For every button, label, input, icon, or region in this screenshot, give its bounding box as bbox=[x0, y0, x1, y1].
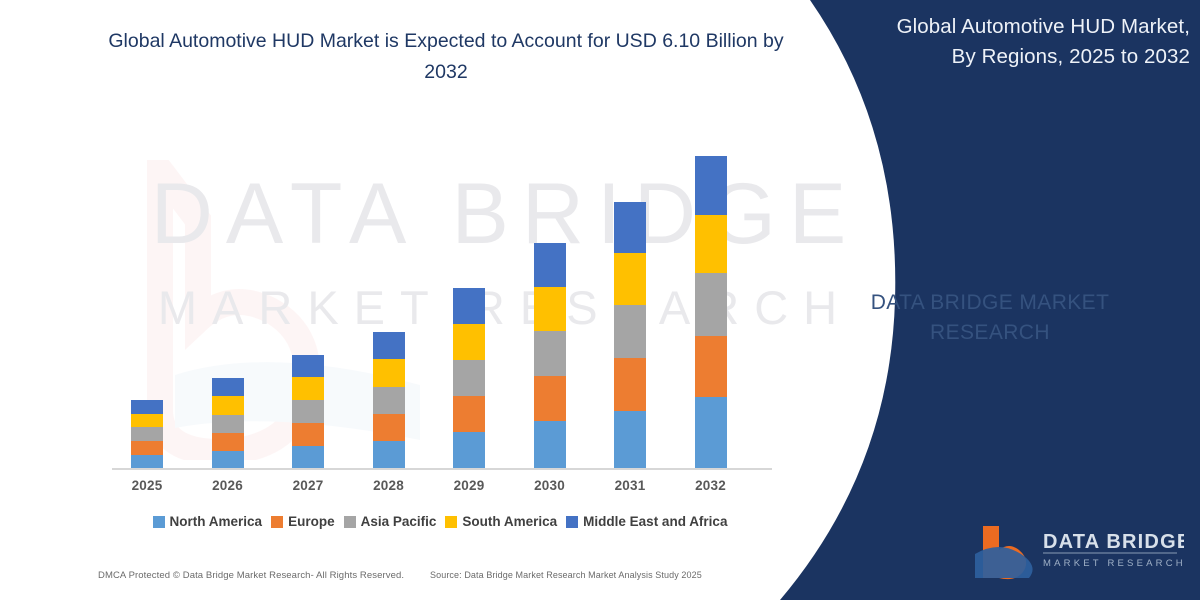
bar-group bbox=[0, 0, 800, 600]
bar-segment[interactable] bbox=[373, 387, 405, 414]
legend-label: Middle East and Africa bbox=[583, 514, 727, 529]
x-axis-label: 2028 bbox=[354, 478, 424, 493]
bar-segment[interactable] bbox=[534, 331, 566, 376]
bar-column[interactable] bbox=[695, 156, 727, 468]
bar-column[interactable] bbox=[614, 202, 646, 468]
legend-label: North America bbox=[170, 514, 263, 529]
bar-segment[interactable] bbox=[131, 455, 163, 468]
bar-segment[interactable] bbox=[131, 427, 163, 441]
x-axis-label: 2027 bbox=[273, 478, 343, 493]
infographic-root: Global Automotive HUD Market is Expected… bbox=[0, 0, 1200, 600]
bar-segment[interactable] bbox=[534, 243, 566, 287]
bar-segment[interactable] bbox=[695, 397, 727, 468]
legend-label: Europe bbox=[288, 514, 335, 529]
bar-column[interactable] bbox=[534, 243, 566, 468]
x-axis-label: 2029 bbox=[434, 478, 504, 493]
bar-segment[interactable] bbox=[131, 414, 163, 427]
bar-segment[interactable] bbox=[212, 378, 244, 396]
bar-segment[interactable] bbox=[453, 396, 485, 432]
x-axis-label: 2026 bbox=[193, 478, 263, 493]
panel-content: Global Automotive HUD Market, By Regions… bbox=[740, 0, 1200, 600]
bar-segment[interactable] bbox=[212, 415, 244, 433]
bar-segment[interactable] bbox=[292, 423, 324, 446]
bar-column[interactable] bbox=[453, 288, 485, 468]
bar-segment[interactable] bbox=[614, 411, 646, 468]
bar-segment[interactable] bbox=[614, 202, 646, 253]
bar-segment[interactable] bbox=[292, 377, 324, 400]
legend-swatch bbox=[344, 516, 356, 528]
legend-swatch bbox=[271, 516, 283, 528]
bar-segment[interactable] bbox=[131, 441, 163, 455]
bar-segment[interactable] bbox=[453, 432, 485, 468]
legend-item[interactable]: South America bbox=[445, 514, 557, 529]
bar-segment[interactable] bbox=[212, 396, 244, 415]
bar-segment[interactable] bbox=[534, 376, 566, 421]
bar-segment[interactable] bbox=[695, 273, 727, 336]
bar-segment[interactable] bbox=[614, 305, 646, 358]
bar-segment[interactable] bbox=[373, 359, 405, 387]
bar-segment[interactable] bbox=[695, 156, 727, 215]
bar-segment[interactable] bbox=[292, 355, 324, 377]
legend-label: South America bbox=[462, 514, 557, 529]
bar-segment[interactable] bbox=[131, 400, 163, 414]
panel-title: Global Automotive HUD Market, By Regions… bbox=[890, 12, 1190, 72]
legend-swatch bbox=[445, 516, 457, 528]
legend-item[interactable]: Asia Pacific bbox=[344, 514, 437, 529]
bar-segment[interactable] bbox=[373, 332, 405, 359]
legend-swatch bbox=[566, 516, 578, 528]
bar-column[interactable] bbox=[212, 378, 244, 468]
x-axis-label: 2025 bbox=[112, 478, 182, 493]
company-logo: DATA BRIDGE MARKET RESEARCH bbox=[969, 520, 1184, 582]
legend-item[interactable]: North America bbox=[153, 514, 263, 529]
bar-segment[interactable] bbox=[373, 414, 405, 441]
bar-segment[interactable] bbox=[534, 287, 566, 331]
legend-label: Asia Pacific bbox=[361, 514, 437, 529]
bar-segment[interactable] bbox=[614, 253, 646, 305]
panel-brand-line2: RESEARCH bbox=[800, 318, 1180, 348]
bar-segment[interactable] bbox=[453, 360, 485, 396]
hexagon-badges: 2032 2025 bbox=[740, 105, 1200, 235]
x-axis-label: 2031 bbox=[595, 478, 665, 493]
logo-tagline: MARKET RESEARCH bbox=[1043, 558, 1184, 569]
bar-column[interactable] bbox=[292, 355, 324, 468]
logo-title: DATA BRIDGE bbox=[1043, 531, 1184, 553]
panel-brand-line1: DATA BRIDGE MARKET bbox=[800, 288, 1180, 318]
x-axis-label: 2032 bbox=[676, 478, 746, 493]
bar-segment[interactable] bbox=[453, 324, 485, 360]
footer-source: Source: Data Bridge Market Research Mark… bbox=[430, 570, 702, 580]
footer-copyright: DMCA Protected © Data Bridge Market Rese… bbox=[98, 570, 404, 581]
bar-segment[interactable] bbox=[292, 400, 324, 423]
legend-swatch bbox=[153, 516, 165, 528]
bar-segment[interactable] bbox=[534, 421, 566, 468]
bar-segment[interactable] bbox=[453, 288, 485, 324]
bar-segment[interactable] bbox=[212, 451, 244, 468]
logo-mark bbox=[975, 526, 1033, 579]
bar-segment[interactable] bbox=[292, 446, 324, 468]
bar-column[interactable] bbox=[373, 332, 405, 468]
panel-brand-watermark: DATA BRIDGE MARKET RESEARCH bbox=[800, 288, 1180, 348]
bar-segment[interactable] bbox=[614, 358, 646, 411]
chart-legend: North AmericaEuropeAsia PacificSouth Ame… bbox=[104, 514, 776, 529]
bar-segment[interactable] bbox=[373, 441, 405, 468]
legend-item[interactable]: Middle East and Africa bbox=[566, 514, 727, 529]
bar-column[interactable] bbox=[131, 400, 163, 468]
bar-segment[interactable] bbox=[212, 433, 244, 451]
legend-item[interactable]: Europe bbox=[271, 514, 335, 529]
chart-plot-area: 20252026202720282029203020312032 bbox=[0, 0, 800, 600]
bar-segment[interactable] bbox=[695, 215, 727, 273]
x-axis-label: 2030 bbox=[515, 478, 585, 493]
bar-segment[interactable] bbox=[695, 336, 727, 397]
